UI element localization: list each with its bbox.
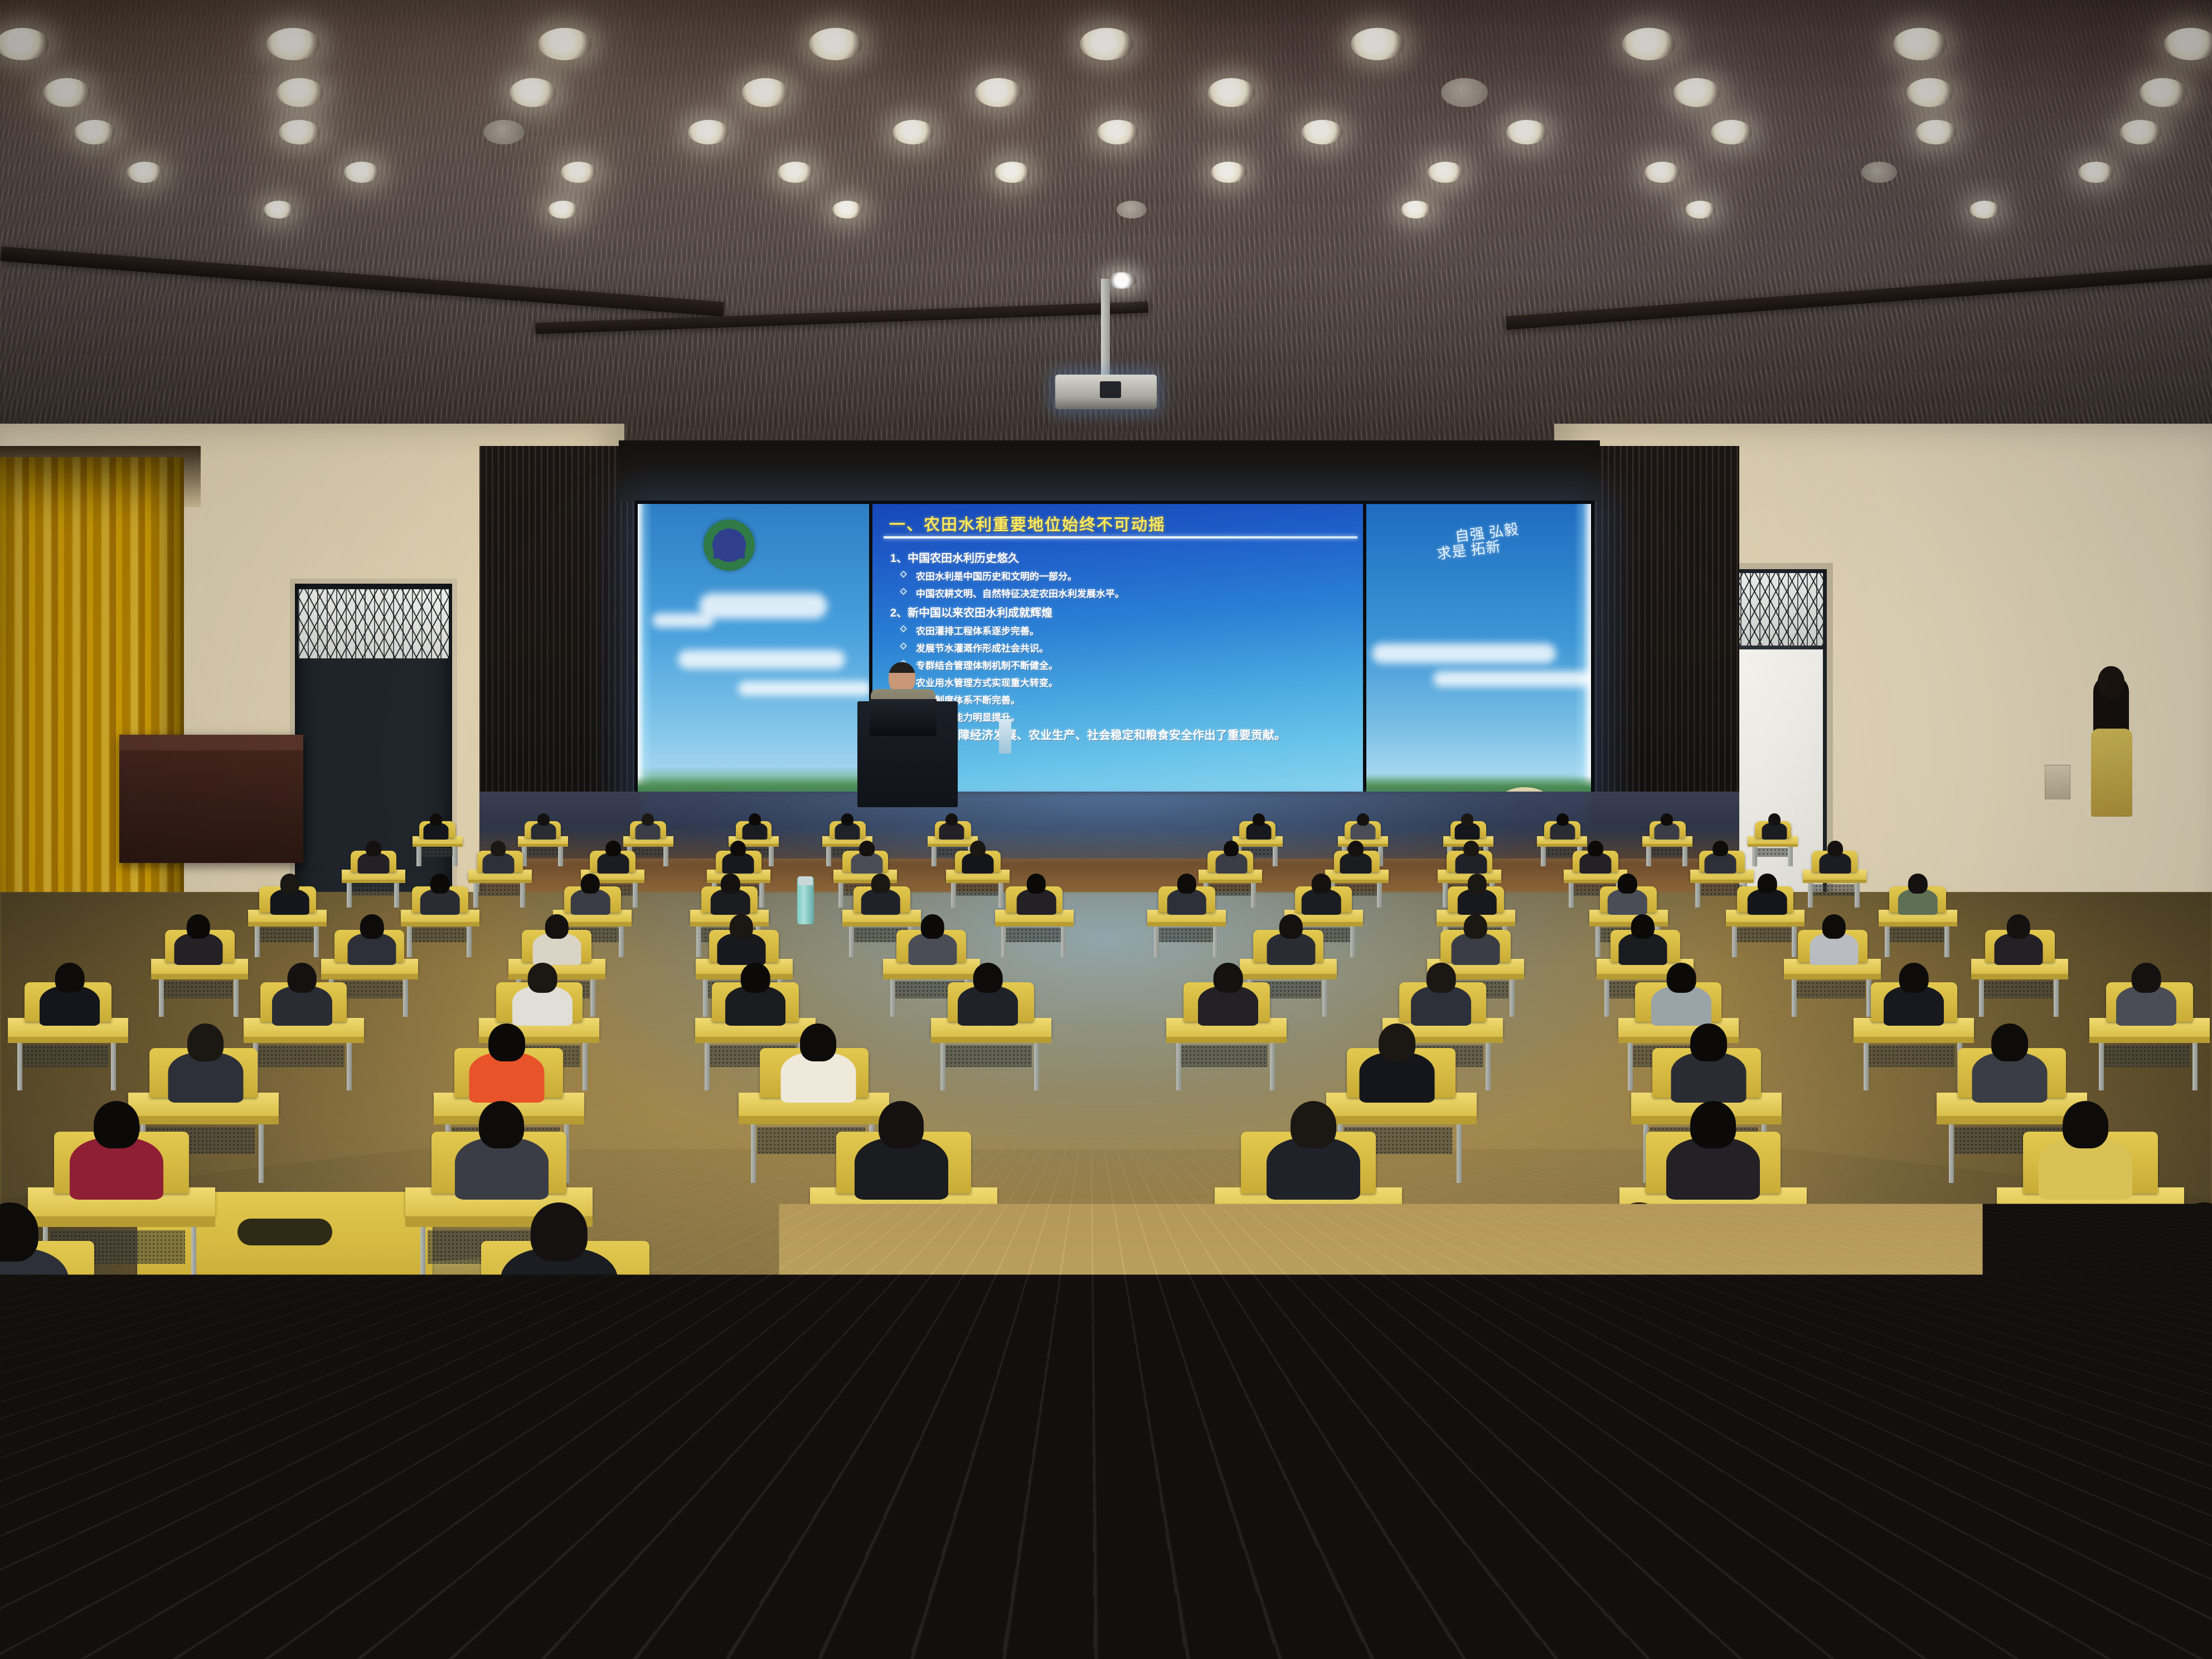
door-handle-icon[interactable] [1813, 742, 1818, 790]
desk-leg [17, 1043, 22, 1090]
attendee-head [1634, 916, 1652, 935]
attendee-head [1825, 916, 1843, 935]
attendee [1884, 963, 1944, 1026]
attendee-head [1465, 842, 1477, 854]
attendee-head [1254, 814, 1263, 824]
attendee [1198, 963, 1258, 1026]
attendee [1215, 841, 1247, 874]
slide-bullet: 农田水利是中国历史和文明的一部分。 [916, 569, 1355, 583]
lecture-hall-scene: 一、农田水利重要地位始终不可动摇 1、中国农田水利历史悠久 农田水利是中国历史和… [0, 0, 2212, 1659]
foreground-attendee-silhouette [0, 1277, 312, 1659]
ceiling-downlight [1622, 28, 1676, 60]
calligraphy-motto: 自强 弘毅 求是 拓新 [1454, 517, 1563, 560]
slide-bullet: 农田灌排工程体系逐步完善。 [916, 623, 1355, 637]
cloud-shape [652, 613, 714, 628]
attendee-head [1910, 876, 1925, 891]
desk-leg [259, 1124, 264, 1183]
desk-leg [1378, 1227, 1383, 1300]
attendee-head [1671, 966, 1692, 988]
attendee [780, 1023, 856, 1103]
attendee [939, 813, 964, 840]
attendee-head [59, 966, 80, 988]
attendee [531, 813, 556, 840]
attendee-head [947, 814, 956, 824]
attendee-head [732, 842, 744, 854]
slide-heading: 1、中国农田水利历史悠久 [890, 549, 1355, 565]
ceiling-downlight [344, 162, 380, 183]
attendee [958, 963, 1018, 1026]
attendee [1580, 1202, 1697, 1326]
head [2098, 666, 2124, 698]
ceiling-downlight [264, 201, 294, 219]
ceiling-downlight [975, 78, 1022, 107]
ceiling-downlight [276, 78, 323, 107]
slide-bullet: 政策制度体系不断完善。 [916, 692, 1355, 706]
water-bottle [999, 719, 1011, 754]
desk-leg [1270, 1043, 1275, 1090]
attendee-head [1996, 1027, 2024, 1055]
attendee-head [744, 966, 766, 988]
attendee [1017, 874, 1056, 915]
attendee-head [433, 876, 447, 891]
attendee-head [1384, 1027, 1411, 1055]
chair-handle-slot [237, 1219, 332, 1245]
attendee-head [493, 1027, 520, 1055]
ceiling-downlight [1711, 120, 1752, 144]
desk-leg [2012, 1227, 2017, 1300]
thermos-cap [798, 876, 813, 885]
attendee [1167, 874, 1206, 915]
slide-bullet: 科技支撑能力明显提升。 [916, 710, 1355, 724]
attendee-head [190, 916, 207, 935]
attendee-head [1770, 814, 1779, 824]
desk-leg [159, 979, 164, 1017]
cloud-shape [1433, 671, 1591, 687]
desk-leg [1230, 1227, 1235, 1300]
desk-leg [1176, 1043, 1181, 1090]
attendee-head [492, 842, 504, 854]
attendee [174, 914, 222, 965]
ceiling-downlight [2164, 28, 2212, 60]
attendee-head [484, 1106, 518, 1142]
attendee-head [1903, 966, 1925, 988]
ceiling-light-wash [0, 0, 2212, 491]
attendee [70, 1101, 163, 1199]
attendee [1671, 1023, 1746, 1103]
ceiling-downlight [1428, 162, 1463, 183]
desk-leg [583, 1043, 588, 1090]
attendee [1550, 813, 1575, 840]
attendee-head [843, 814, 852, 824]
cloud-shape [738, 681, 869, 696]
foreground-attendee-silhouette [658, 1405, 920, 1659]
attendee-head [291, 966, 313, 988]
projection-screen: 一、农田水利重要地位始终不可动摇 1、中国农田水利历史悠久 农田水利是中国历史和… [634, 501, 1594, 813]
attendee [1762, 813, 1787, 840]
ceiling-downlight-off [1441, 78, 1488, 107]
slide-title-rule [884, 536, 1357, 539]
attendee-head [548, 916, 566, 935]
ceiling-downlight [266, 28, 320, 60]
attendee [40, 963, 100, 1026]
ceiling-downlight [832, 201, 862, 219]
cloud-shape [1372, 643, 1556, 663]
desk-leg [1034, 1043, 1039, 1090]
attendee-head [1029, 876, 1044, 891]
slide-bullet: 农业用水管理方式实现重大转变。 [916, 675, 1355, 689]
desk-leg [654, 1359, 659, 1451]
desk-leg [1628, 1043, 1633, 1090]
ceiling-downlight [1080, 28, 1133, 60]
attendee [1267, 1101, 1360, 1199]
slide-conclusion: 农田水利为保障经济发展、农业生产、社会稳定和粮食安全作出了重要贡献。 [888, 729, 1355, 743]
desk-leg [1604, 979, 1609, 1017]
attendee [1820, 841, 1851, 874]
cloud-shape [699, 593, 827, 619]
attendee [1608, 874, 1647, 915]
desk-leg [973, 1227, 978, 1300]
ceiling-downlight [1915, 120, 1957, 144]
desk-leg [890, 979, 895, 1017]
attendee [270, 874, 309, 915]
attendee [2039, 1101, 2132, 1199]
upright-piano [119, 735, 303, 863]
attendee [1350, 813, 1375, 840]
ceiling-downlight [742, 78, 789, 107]
attendee-head [1225, 842, 1237, 854]
piano-lid [119, 735, 303, 750]
ceiling-downlight [538, 28, 591, 60]
attendee-head [804, 1027, 832, 1055]
attendee [743, 813, 768, 840]
desk-leg [825, 1227, 830, 1300]
attendee [1267, 914, 1315, 965]
desk-leg [2099, 1043, 2104, 1090]
attendee [1810, 914, 1858, 965]
attendee-head [1350, 842, 1362, 854]
attendee [512, 963, 573, 1026]
attendee [358, 841, 390, 874]
foreground-attendee-silhouette [290, 1427, 580, 1659]
desk-leg [705, 1043, 710, 1090]
desk-leg [1731, 1359, 1736, 1451]
attendee [532, 914, 581, 965]
ceiling-downlight-off [483, 120, 525, 144]
ceiling-downlight [995, 162, 1030, 183]
slide-bullet: 发展节水灌溉作形成社会共识。 [916, 641, 1355, 654]
ceiling-downlight [1211, 162, 1246, 183]
ceiling-downlight [1506, 120, 1548, 144]
screen-panel-left [638, 504, 869, 809]
ceiling-downlight [510, 78, 556, 107]
door-grille-icon [298, 589, 449, 658]
left-door-transom [298, 589, 449, 658]
attendee [2145, 1202, 2212, 1326]
screen-edge-glow [638, 504, 652, 809]
ceiling-downlight [2140, 78, 2186, 107]
ceiling-downlight [892, 120, 934, 144]
attendee-head [1696, 1106, 1730, 1142]
attendee [855, 1101, 948, 1199]
attendee [1618, 914, 1667, 965]
wall-switch[interactable] [2045, 765, 2070, 799]
screen-header-box [619, 440, 1600, 502]
desk-leg [2192, 1043, 2198, 1090]
attendee [1748, 874, 1787, 915]
attendee [962, 841, 993, 874]
desk-leg [703, 979, 708, 1017]
desk-leg [1864, 1043, 1869, 1090]
attendee [908, 914, 957, 965]
ceiling-downlight [1351, 28, 1404, 60]
lectern-laptop [870, 699, 937, 736]
attendee-head [368, 842, 380, 854]
attendee [1666, 1101, 1760, 1199]
attendee-head [1618, 1208, 1660, 1253]
ceiling-downlight [1907, 78, 1953, 107]
mustard-coat [2091, 729, 2132, 817]
ceiling-downlight [2078, 162, 2114, 183]
desk-leg [1486, 1043, 1491, 1090]
ceiling-downlight [1970, 201, 2000, 219]
attendee-head [608, 842, 619, 854]
attendee-head [1467, 916, 1485, 935]
attendee-head [1590, 842, 1602, 854]
desk-leg [1792, 979, 1797, 1017]
attendee-head [861, 842, 873, 854]
attendee [482, 841, 514, 874]
attendee [598, 841, 629, 874]
attendee [635, 813, 660, 840]
screen-edge-glow [1574, 504, 1591, 809]
attendee-head [1314, 876, 1329, 891]
attendee [420, 874, 460, 915]
cloud-shape [678, 650, 845, 669]
attendee-head [1180, 876, 1194, 891]
desk-leg [1783, 1227, 1788, 1300]
projector-mount-pole [1101, 279, 1110, 377]
attendee-head [583, 876, 598, 891]
projector-vent-icon [1100, 381, 1121, 398]
screen-panel-right: 自强 弘毅 求是 拓新 [1366, 504, 1591, 809]
attendee-head [539, 814, 548, 824]
desk-leg [1949, 1124, 1954, 1183]
ceiling [0, 0, 2212, 491]
attendee-head [1217, 966, 1239, 988]
attendee-head [733, 916, 750, 935]
attendee [168, 1023, 243, 1103]
attendee-head [750, 814, 759, 824]
attendee [1994, 914, 2043, 965]
attendee-head [1714, 842, 1726, 854]
ceiling-downlight [2120, 120, 2161, 144]
phone-screen [321, 1294, 376, 1329]
attendee-head [2068, 1106, 2102, 1142]
ceiling-downlight [279, 120, 320, 144]
attendee [1580, 841, 1612, 874]
ceiling-downlight [548, 201, 578, 219]
attendee-head [192, 1027, 219, 1055]
attendee [272, 963, 332, 1026]
attendee-head [977, 966, 998, 988]
attendee-head [531, 966, 553, 988]
attendee-head [723, 876, 738, 891]
ceiling-downlight [1685, 201, 1715, 219]
attendee [1898, 874, 1938, 915]
ceiling-downlight [1302, 120, 1343, 144]
attendee-head [1558, 814, 1567, 824]
ceiling-projector [1055, 375, 1157, 409]
ceiling-downlight [688, 120, 729, 144]
desk-leg [1979, 979, 1984, 1017]
attendee-head [537, 1208, 580, 1253]
attendee [469, 1023, 545, 1103]
attendee [1454, 813, 1479, 840]
attendee [722, 841, 754, 874]
attendee-head [972, 842, 984, 854]
attendee [1246, 813, 1272, 840]
attendee-head [1296, 1106, 1330, 1142]
ceiling-downlight [74, 120, 115, 144]
ceiling-downlight-off [1861, 162, 1897, 183]
ceiling-downlight [809, 28, 862, 60]
ceiling-downlight [1097, 120, 1138, 144]
desk-leg [751, 1124, 756, 1183]
university-emblem [704, 520, 755, 571]
attendee [861, 874, 901, 915]
desk-leg [940, 1043, 945, 1090]
attendee [348, 914, 396, 965]
slide-bullet: 中国农耕文明、自然特征决定农田水利发展水平。 [916, 586, 1355, 600]
attendee [1455, 841, 1487, 874]
attendee [717, 914, 765, 965]
ceiling-downlight [1401, 201, 1431, 219]
attendee [455, 1101, 549, 1199]
attendee [1655, 813, 1680, 840]
attendee-head [1830, 842, 1841, 854]
attendee-head [1695, 1027, 1722, 1055]
attendee-head [1282, 916, 1300, 935]
standing-attendee [2088, 666, 2135, 817]
desk-leg [347, 1043, 352, 1090]
attendee-head [1662, 814, 1671, 824]
attendee-head [363, 916, 381, 935]
pagoda-icon [714, 532, 745, 559]
ceiling-downlight-off [1117, 201, 1147, 219]
attendee [1457, 874, 1497, 915]
ceiling-downlight [778, 162, 813, 183]
attendee-head [1430, 966, 1452, 988]
ceiling-downlight [561, 162, 596, 183]
attendee-head [2136, 966, 2157, 988]
ceiling-downlight [127, 162, 163, 183]
slide-heading: 2、新中国以来农田水利成就辉煌 [890, 604, 1355, 620]
slide-bullet: 专群结合管理体制机制不断健全。 [916, 658, 1355, 672]
attendee [1302, 874, 1341, 915]
attendee [851, 841, 882, 874]
attendee-head [100, 1106, 134, 1142]
slide-title: 一、农田水利重要地位始终不可动摇 [889, 512, 1353, 535]
desk-leg [111, 1043, 116, 1090]
attendee-head [924, 916, 942, 935]
attendee-head [1470, 876, 1485, 891]
ceiling-downlight [43, 78, 90, 107]
desk-leg [1457, 1124, 1462, 1183]
ceiling-downlight [1645, 162, 1680, 183]
projector-indicator-light [1107, 272, 1137, 289]
attendee-head [643, 814, 652, 824]
thermos-flask [797, 876, 814, 924]
attendee [424, 813, 449, 840]
attendee [1972, 1023, 2048, 1103]
desk-leg [1544, 1359, 1549, 1451]
attendee [571, 874, 610, 915]
ceiling-downlight [1208, 78, 1255, 107]
foreground-attendee-silhouette [1650, 1449, 1940, 1659]
attendee-head [1621, 876, 1635, 891]
ceiling-downlight [1673, 78, 1720, 107]
attendee [1360, 1023, 1435, 1103]
attendee [1411, 963, 1471, 1026]
attendee-head [1359, 814, 1367, 824]
attendee [725, 963, 785, 1026]
attendee [1651, 963, 1711, 1026]
attendee-head [283, 876, 297, 891]
attendee-head [431, 814, 440, 824]
attendee [711, 874, 750, 915]
attendee [2116, 963, 2176, 1026]
attendee-head [1760, 876, 1775, 891]
ceiling-downlight [1893, 28, 1947, 60]
attendee [835, 813, 860, 840]
attendee-head [874, 876, 888, 891]
attendee-head [1462, 814, 1471, 824]
attendee [501, 1202, 618, 1326]
attendee-head [884, 1106, 918, 1142]
attendee [1704, 841, 1736, 874]
attendee [1340, 841, 1372, 874]
attendee-head [2010, 916, 2027, 935]
attendee [1451, 914, 1500, 965]
desk-leg [420, 1227, 425, 1300]
